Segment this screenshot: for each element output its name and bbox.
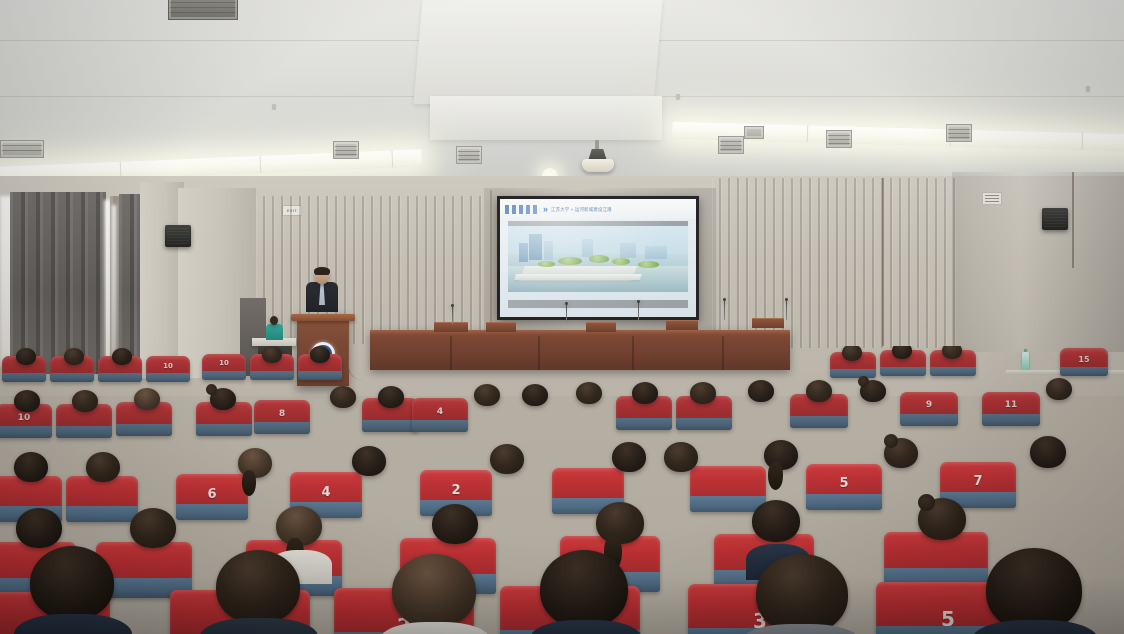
nameplate: [666, 320, 698, 330]
nameplate: [434, 322, 468, 332]
slide-header: » 江苏大学 » 运河新城建设江港: [500, 199, 696, 219]
seat[interactable]: [66, 476, 138, 522]
seat[interactable]: 11: [982, 392, 1040, 426]
projection-screen-frame: » 江苏大学 » 运河新城建设江港: [497, 196, 699, 320]
seat[interactable]: 15: [1060, 348, 1108, 376]
seat[interactable]: 10: [146, 356, 190, 382]
wall-speaker-left: [165, 225, 191, 247]
ceiling-bulkhead: [413, 0, 662, 104]
seat-number: 9: [900, 400, 958, 410]
microphone-icon: [638, 302, 640, 322]
seat-number: 2: [420, 483, 492, 498]
ceiling-projector: [582, 140, 614, 174]
seat[interactable]: 9: [900, 392, 958, 426]
seat[interactable]: 8: [254, 400, 310, 434]
hvac-vent-icon: [744, 126, 764, 139]
seat-number: 11: [982, 400, 1040, 410]
seat[interactable]: 5: [806, 464, 882, 510]
wall-speaker-right: [1042, 208, 1068, 230]
ceiling-bulkhead-lower: [430, 96, 662, 140]
hvac-vent-icon: [333, 141, 359, 159]
nameplate: [486, 322, 516, 332]
chevron-icon: »: [543, 205, 547, 214]
seat-number: 4: [412, 407, 468, 417]
wood-wall-far-right: [952, 172, 1124, 352]
seat-number: 6: [176, 487, 248, 502]
microphone-icon: [566, 304, 568, 324]
hvac-vent-icon: [0, 140, 44, 158]
projection-screen: » 江苏大学 » 运河新城建设江港: [500, 199, 696, 317]
slide-band-bottom: [508, 300, 688, 307]
av-operator: [266, 316, 283, 340]
hvac-vent-icon: [718, 136, 744, 154]
slide-title: 江苏大学 » 运河新城建设江港: [551, 207, 612, 212]
nameplate: [752, 318, 784, 328]
hvac-vent-icon: [456, 146, 482, 164]
seat-number: 10: [0, 413, 52, 423]
seat[interactable]: [884, 532, 988, 588]
microphone-icon: [786, 300, 788, 320]
seat-number: 7: [940, 474, 1016, 489]
nameplate: [586, 322, 616, 332]
microphone-icon: [724, 300, 726, 320]
seat-number: 15: [1060, 355, 1108, 364]
university-logo-icon: [505, 205, 539, 214]
seat-number: 8: [254, 409, 310, 419]
hvac-vent-icon: [946, 124, 972, 142]
hvac-vent-icon: [826, 130, 852, 148]
ceiling: [0, 0, 1124, 200]
seat-number: 10: [202, 359, 246, 367]
microphone-icon: [452, 306, 454, 324]
seat[interactable]: 6: [176, 474, 248, 520]
audience-seating: 10 10 15: [0, 346, 1124, 634]
auditorium-photo: EXIT » 江苏大学 » 运河新城建设江港: [0, 0, 1124, 634]
seat-number: 4: [290, 485, 362, 500]
speaker-at-podium: [306, 268, 338, 316]
wall-notice-sign: [982, 192, 1002, 205]
seat-number: 5: [806, 476, 882, 491]
seat[interactable]: [690, 466, 766, 512]
seat[interactable]: 10: [202, 354, 246, 380]
slide-photo: [508, 226, 688, 292]
wood-wall-right: [712, 178, 956, 348]
seat-number: 10: [146, 362, 190, 370]
hvac-vent-icon: [168, 0, 238, 20]
seat[interactable]: 4: [412, 398, 468, 432]
